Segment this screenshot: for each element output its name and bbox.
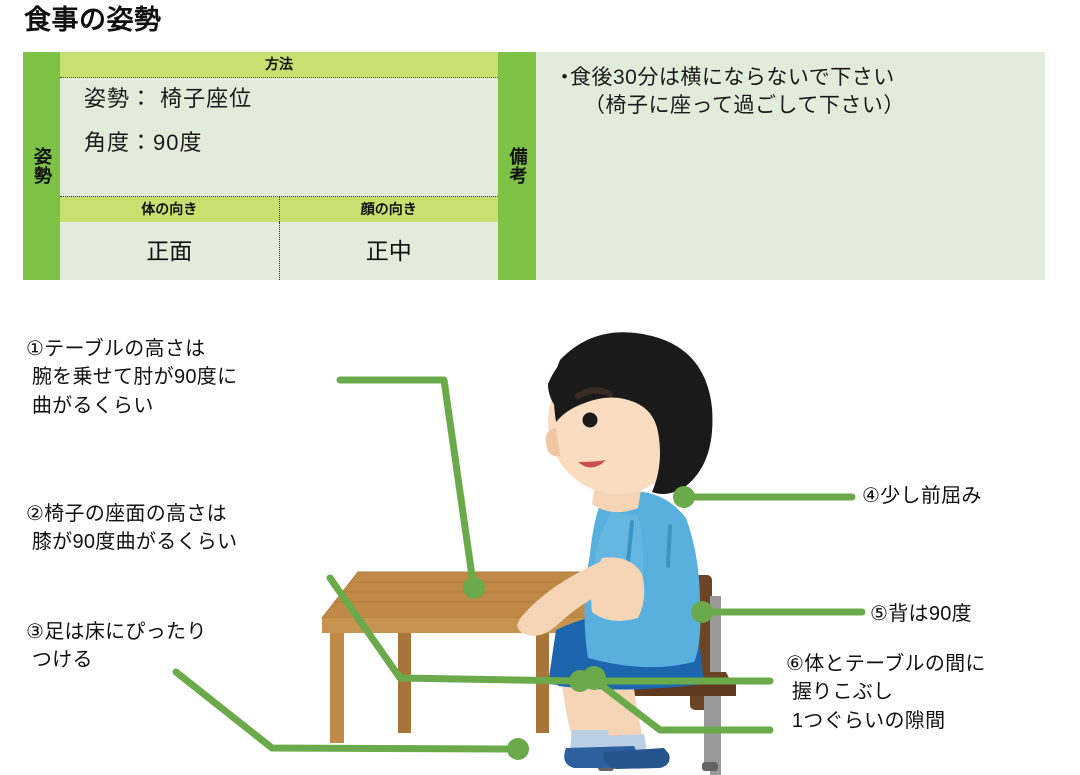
callout-connectors (176, 380, 862, 749)
callout-2-text: ②椅子の座面の高さは 膝が90度曲がるくらい (26, 500, 237, 557)
dot-6-body-gap (582, 666, 606, 690)
remark-text: 食後30分は横にならないで下さい （椅子に座って過ごして下さい） (570, 64, 905, 119)
table-col-head-remarks: 備考 (498, 52, 536, 280)
callout-5-text: ⑤背は90度 (870, 600, 972, 628)
page-title: 食事の姿勢 (24, 4, 162, 36)
dot-3-foot (507, 738, 529, 760)
table-cell-method: 姿勢： 椅子座位 角度：90度 (60, 78, 498, 197)
dot-5-chair-back (691, 601, 713, 623)
callout-1-text: ①テーブルの高さは 腕を乗せて肘が90度に 曲がるくらい (26, 335, 237, 420)
table-header-method: 方法 (60, 52, 498, 78)
remark-item: ・ 食後30分は横にならないで下さい （椅子に座って過ごして下さい） (554, 64, 1035, 119)
table-subheader-row: 体の向き 顔の向き (60, 197, 498, 222)
callout-3-text: ③足は床にぴったり つける (26, 618, 207, 675)
table-row-head-posture: 姿勢 (23, 52, 60, 280)
remark-line-2: （椅子に座って過ごして下さい） (570, 94, 905, 117)
remark-line-1: 食後30分は横にならないで下さい (570, 66, 895, 89)
method-line-angle: 角度：90度 (84, 132, 498, 154)
callout-6-text: ⑥体とテーブルの間に 握りこぶし 1つぐらいの隙間 (786, 650, 986, 735)
method-line-posture: 姿勢： 椅子座位 (84, 88, 498, 110)
remarks-panel: ・ 食後30分は横にならないで下さい （椅子に座って過ごして下さい） (536, 52, 1045, 280)
dot-4-upper-back (673, 486, 695, 508)
subheader-body-direction: 体の向き (60, 197, 280, 222)
table-body: 方法 姿勢： 椅子座位 角度：90度 体の向き 顔の向き 正面 正中 (60, 52, 498, 280)
subheader-face-direction: 顔の向き (280, 197, 499, 222)
slide-page: 食事の姿勢 姿勢 方法 姿勢： 椅子座位 角度：90度 体の向き 顔の向き 正面… (0, 0, 1080, 775)
value-face-direction: 正中 (280, 222, 499, 280)
callout-4-text: ④少し前屈み (862, 482, 982, 510)
illustration-area: ①テーブルの高さは 腕を乗せて肘が90度に 曲がるくらい ②椅子の座面の高さは … (0, 300, 1080, 775)
value-body-direction: 正面 (60, 222, 280, 280)
posture-table: 姿勢 方法 姿勢： 椅子座位 角度：90度 体の向き 顔の向き 正面 正中 備考 (23, 52, 536, 280)
connector-1 (340, 380, 474, 590)
table-subvalue-row: 正面 正中 (60, 222, 498, 280)
connector-3 (176, 672, 516, 749)
dot-1-tabletop (463, 577, 485, 599)
bullet-icon: ・ (554, 64, 570, 119)
